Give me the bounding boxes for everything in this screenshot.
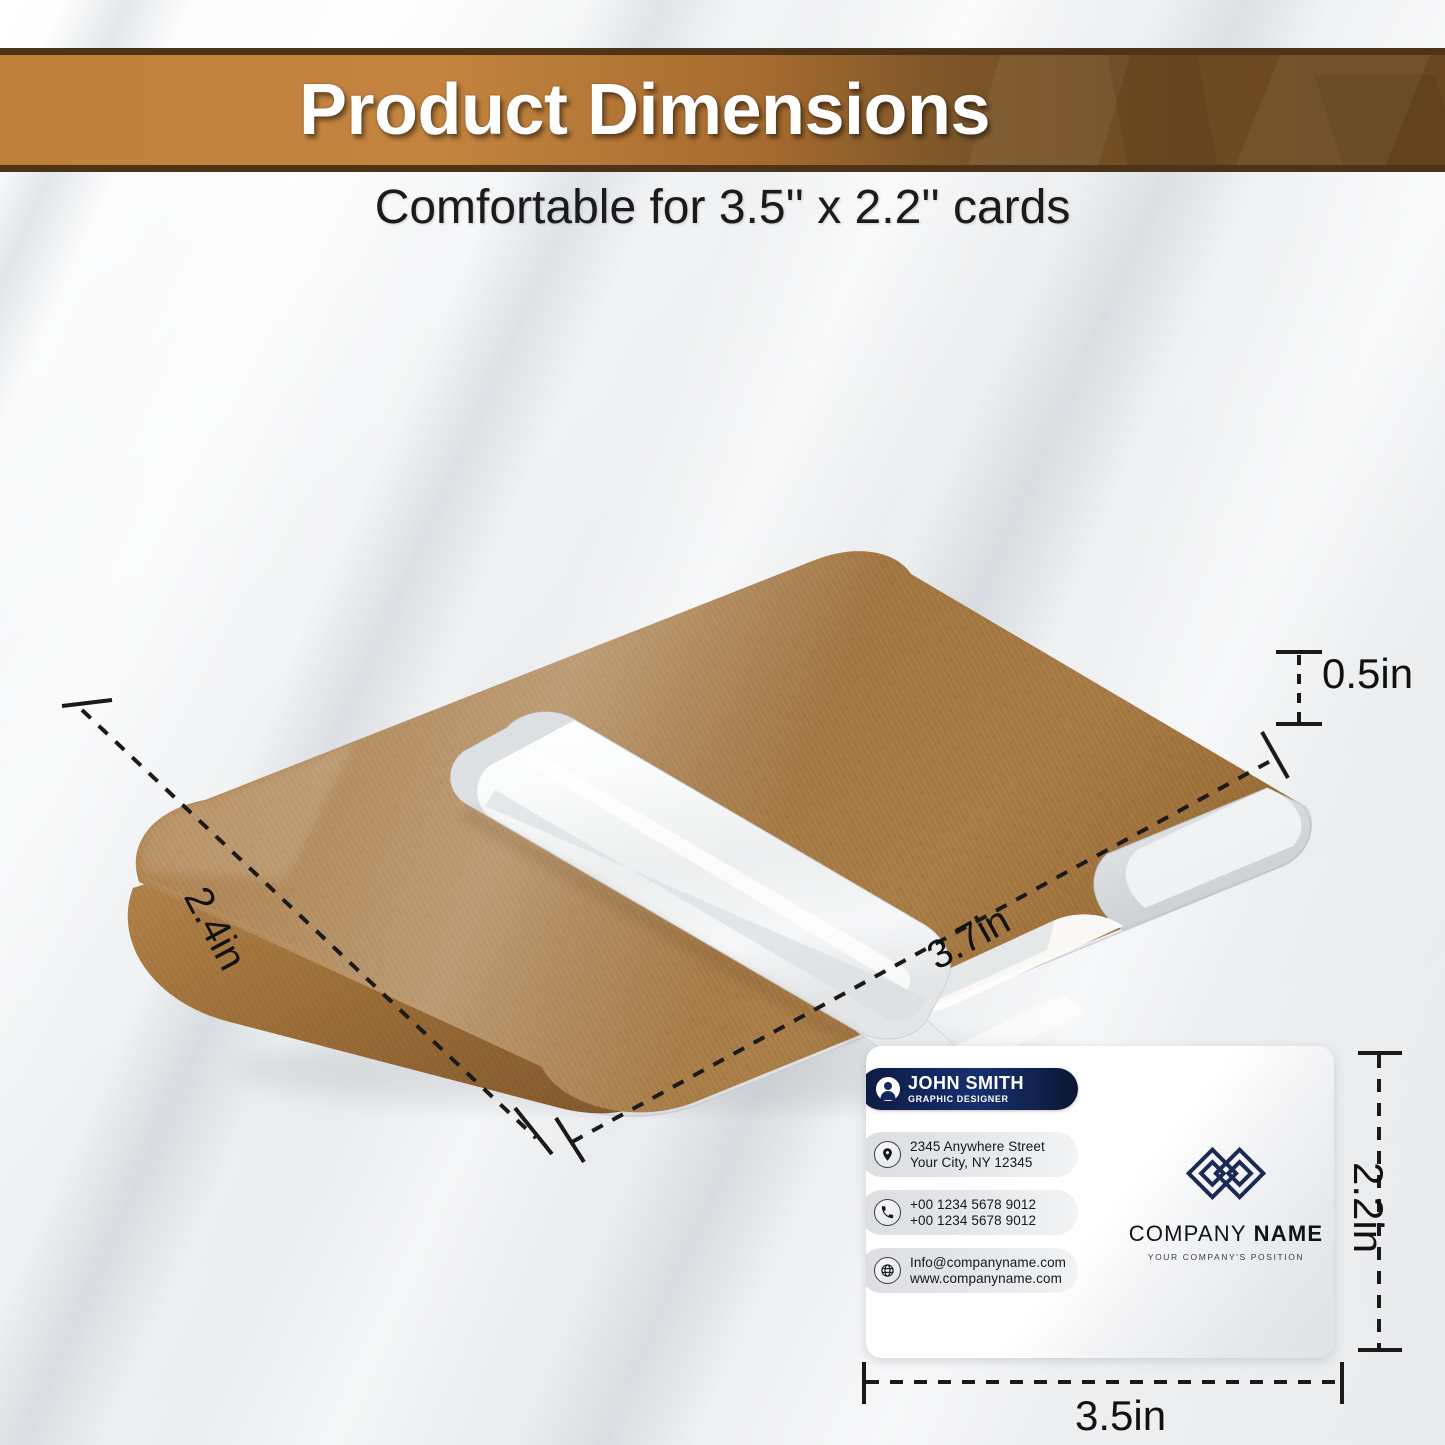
product-illustration — [55, 260, 1335, 1130]
business-card-address-line2: Your City, NY 12345 — [910, 1155, 1045, 1170]
business-card-company-name: COMPANY NAME — [1129, 1221, 1324, 1247]
header-banner: Product Dimensions — [0, 48, 1445, 172]
business-card-website: www.companyname.com — [910, 1271, 1066, 1286]
business-card-phone-row: +00 1234 5678 9012 +00 1234 5678 9012 — [866, 1190, 1078, 1235]
business-card-address-line1: 2345 Anywhere Street — [910, 1139, 1045, 1154]
globe-icon — [874, 1257, 901, 1284]
company-name-light: COMPANY — [1129, 1221, 1247, 1246]
subtitle: Comfortable for 3.5'' x 2.2'' cards — [0, 180, 1445, 235]
interlocking-diamonds-logo — [1178, 1143, 1274, 1215]
dimension-label-height: 0.5in — [1322, 650, 1413, 698]
phone-icon — [874, 1199, 901, 1226]
business-card-contact-column: JOHN SMITH GRAPHIC DESIGNER 2345 Anywher… — [866, 1046, 1116, 1358]
business-card: JOHN SMITH GRAPHIC DESIGNER 2345 Anywher… — [866, 1046, 1334, 1358]
infographic-stage: Product Dimensions Comfortable for 3.5''… — [0, 0, 1445, 1445]
business-card-name: JOHN SMITH — [908, 1074, 1024, 1092]
business-card-address-row: 2345 Anywhere Street Your City, NY 12345 — [866, 1132, 1078, 1177]
business-card-logo-column: COMPANY NAME YOUR COMPANY'S POSITION — [1118, 1046, 1334, 1358]
business-card-phone-line1: +00 1234 5678 9012 — [910, 1197, 1036, 1212]
business-card-name-badge: JOHN SMITH GRAPHIC DESIGNER — [866, 1068, 1078, 1110]
person-avatar-icon — [876, 1077, 900, 1101]
business-card-web-row: Info@companyname.com www.companyname.com — [866, 1248, 1078, 1293]
page-title: Product Dimensions — [299, 69, 990, 151]
business-card-phone-line2: +00 1234 5678 9012 — [910, 1213, 1036, 1228]
business-card-company-tagline: YOUR COMPANY'S POSITION — [1148, 1252, 1304, 1262]
company-name-bold: NAME — [1254, 1221, 1324, 1246]
dimension-label-card-width: 3.5in — [1075, 1392, 1166, 1440]
dimension-label-card-height: 2.2in — [1344, 1162, 1392, 1253]
business-card-role: GRAPHIC DESIGNER — [908, 1095, 1024, 1104]
product-image — [55, 260, 1335, 1130]
business-card-email: Info@companyname.com — [910, 1255, 1066, 1270]
location-pin-icon — [874, 1141, 901, 1168]
